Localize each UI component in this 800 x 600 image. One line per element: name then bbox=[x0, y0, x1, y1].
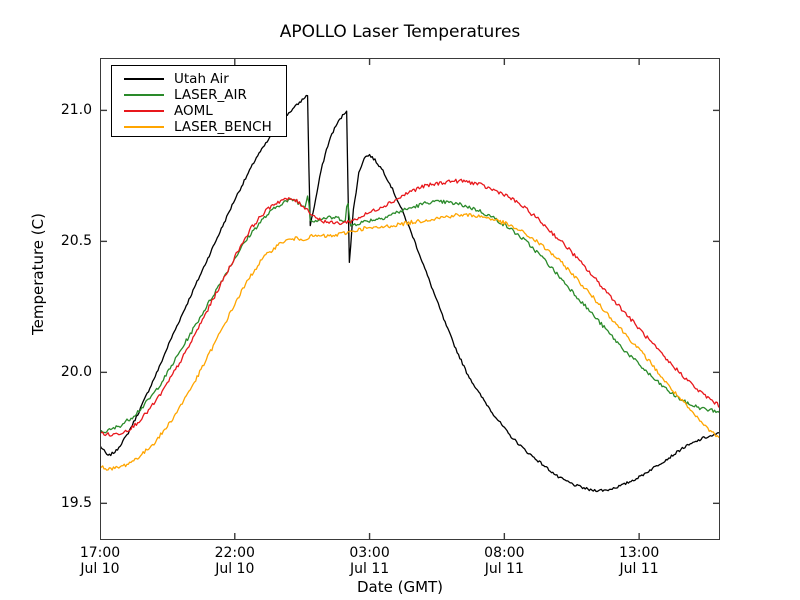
legend-item-laser-bench: LASER_BENCH bbox=[112, 119, 286, 135]
x-tick-date: Jul 11 bbox=[579, 561, 699, 577]
legend-label: Utah Air bbox=[174, 71, 229, 87]
x-tick-date: Jul 11 bbox=[310, 561, 430, 577]
x-tick-time: 13:00 bbox=[579, 546, 699, 561]
legend-item-aoml: AOML bbox=[112, 103, 286, 119]
x-tick-time: 03:00 bbox=[310, 546, 430, 561]
y-tick-label: 21.0 bbox=[22, 102, 92, 118]
chart-title: APOLLO Laser Temperatures bbox=[0, 22, 800, 42]
legend-label: LASER_BENCH bbox=[174, 119, 272, 135]
legend-color-swatch bbox=[124, 78, 164, 80]
x-tick-date: Jul 11 bbox=[444, 561, 564, 577]
x-tick-time: 17:00 bbox=[40, 546, 160, 561]
legend-color-swatch bbox=[124, 126, 164, 128]
y-axis-label: Temperature (C) bbox=[29, 174, 47, 374]
x-tick-label: 22:00Jul 10 bbox=[175, 546, 295, 577]
x-axis-label: Date (GMT) bbox=[0, 578, 800, 596]
legend-color-swatch bbox=[124, 94, 164, 96]
x-tick-date: Jul 10 bbox=[175, 561, 295, 577]
x-tick-time: 08:00 bbox=[444, 546, 564, 561]
x-tick-label: 13:00Jul 11 bbox=[579, 546, 699, 577]
y-tick-label: 20.5 bbox=[22, 233, 92, 249]
chart-figure: APOLLO Laser Temperatures Temperature (C… bbox=[0, 0, 800, 600]
legend-label: AOML bbox=[174, 103, 213, 119]
x-tick-label: 17:00Jul 10 bbox=[40, 546, 160, 577]
legend-label: LASER_AIR bbox=[174, 87, 247, 103]
legend-item-laser-air: LASER_AIR bbox=[112, 87, 286, 103]
legend-item-utah-air: Utah Air bbox=[112, 71, 286, 87]
legend-color-swatch bbox=[124, 110, 164, 112]
x-tick-time: 22:00 bbox=[175, 546, 295, 561]
x-tick-label: 08:00Jul 11 bbox=[444, 546, 564, 577]
y-tick-label: 20.0 bbox=[22, 364, 92, 380]
x-tick-label: 03:00Jul 11 bbox=[310, 546, 430, 577]
chart-legend: Utah AirLASER_AIRAOMLLASER_BENCH bbox=[111, 65, 287, 137]
y-tick-label: 19.5 bbox=[22, 495, 92, 511]
x-tick-date: Jul 10 bbox=[40, 561, 160, 577]
